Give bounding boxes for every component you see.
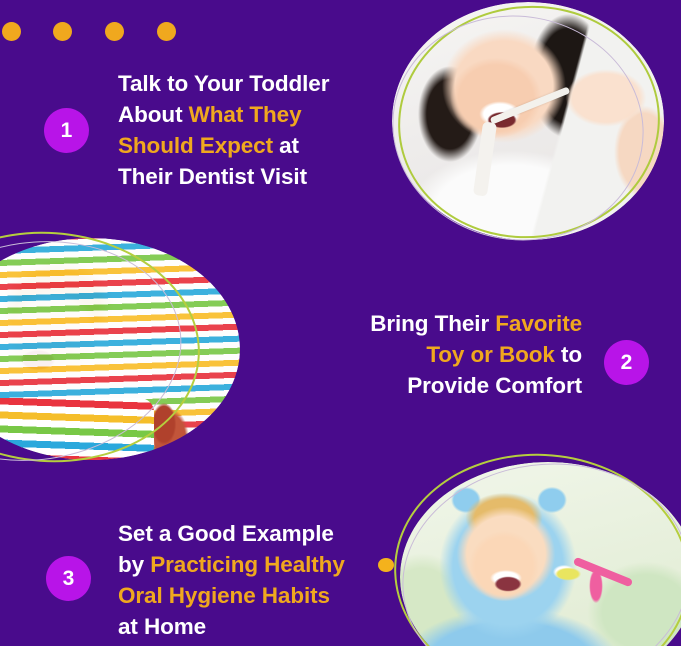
photo-dentist-examining-child: [392, 2, 664, 240]
highlight-text: What They: [189, 102, 302, 127]
plain-text: Their Dentist Visit: [118, 164, 307, 189]
highlight-text: Favorite: [495, 311, 582, 336]
step-1-line-2: About What They: [118, 99, 388, 130]
step-number-badge-2: 2: [604, 340, 649, 385]
step-number-badge-1: 1: [44, 108, 89, 153]
infographic-canvas: 1 Talk to Your ToddlerAbout What TheySho…: [0, 0, 681, 646]
plain-text: by: [118, 552, 150, 577]
step-3-line-3: Oral Hygiene Habits: [118, 580, 400, 611]
plain-text: to: [555, 342, 582, 367]
step-2-line-3: Provide Comfort: [300, 370, 582, 401]
plain-text: Set a Good Example: [118, 521, 334, 546]
photo-child-in-bear-hoodie-with-toothbrush: [400, 462, 681, 646]
decorative-dot-3: [105, 22, 124, 41]
photo-bear-hoodie-image: [400, 462, 681, 646]
highlight-text: Toy or Book: [426, 342, 554, 367]
step-3-line-1: Set a Good Example: [118, 518, 400, 549]
step-2-line-1: Bring Their Favorite: [300, 308, 582, 339]
step-1-line-3: Should Expect at: [118, 130, 388, 161]
highlight-text: Practicing Healthy: [150, 552, 345, 577]
step-3-line-4: at Home: [118, 611, 400, 642]
plain-text: Provide Comfort: [407, 373, 582, 398]
step-number-badge-3: 3: [46, 556, 91, 601]
plain-text: About: [118, 102, 189, 127]
step-3-line-2: by Practicing Healthy: [118, 549, 400, 580]
step-1-heading: Talk to Your ToddlerAbout What TheyShoul…: [118, 68, 388, 192]
step-1-line-4: Their Dentist Visit: [118, 161, 388, 192]
plain-text: Bring Their: [370, 311, 495, 336]
step-2-line-2: Toy or Book to: [300, 339, 582, 370]
highlight-text: Oral Hygiene Habits: [118, 583, 330, 608]
decorative-dot-4: [157, 22, 176, 41]
photo-toddler-with-dinosaur-toys: [0, 238, 240, 460]
step-3-heading: Set a Good Exampleby Practicing HealthyO…: [118, 518, 400, 642]
plain-text: Talk to Your Toddler: [118, 71, 329, 96]
photo-dentist-image: [392, 2, 664, 240]
plain-text: at Home: [118, 614, 206, 639]
step-2-heading: Bring Their FavoriteToy or Book toProvid…: [300, 308, 582, 401]
striped-shirt-detail: [0, 398, 154, 460]
step-1-line-1: Talk to Your Toddler: [118, 68, 388, 99]
decorative-dot-2: [53, 22, 72, 41]
highlight-text: Should Expect: [118, 133, 273, 158]
plain-text: at: [273, 133, 299, 158]
decorative-dot-1: [2, 22, 21, 41]
